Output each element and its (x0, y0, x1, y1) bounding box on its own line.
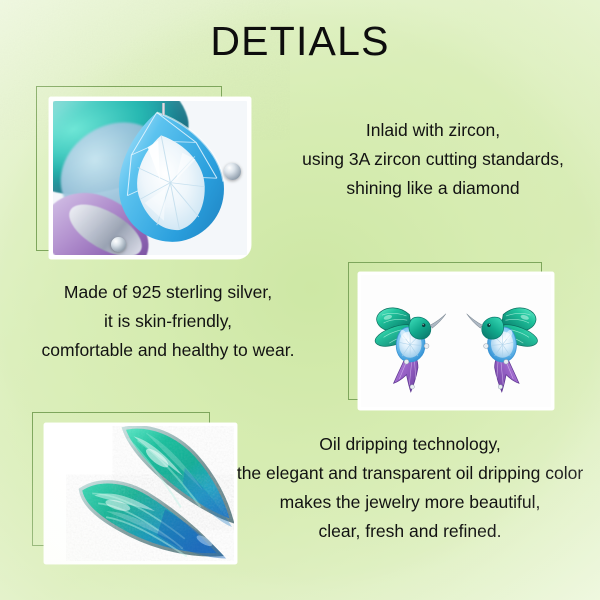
photo-frame-earrings (358, 272, 554, 410)
page-title: DETIALS (0, 18, 600, 65)
product-detail-page: DETIALS (0, 0, 600, 600)
zircon-line-3: shining like a diamond (283, 174, 583, 203)
oil-line-2: the elegant and transparent oil dripping… (230, 459, 590, 488)
photo-panel-enamel (32, 412, 232, 564)
photo-frame-zircon (49, 97, 251, 259)
zircon-line-1: Inlaid with zircon, (283, 116, 583, 145)
earrings-scene (361, 275, 551, 407)
oil-line-3: makes the jewelry more beautiful, (230, 488, 590, 517)
photo-panel-earrings (348, 262, 563, 414)
text-block-silver: Made of 925 sterling silver, it is skin-… (18, 278, 318, 365)
text-block-oil-dripping: Oil dripping technology, the elegant and… (230, 430, 590, 546)
zircon-line-2: using 3A zircon cutting standards, (283, 145, 583, 174)
pear-cut-gem (99, 101, 239, 254)
silver-line-3: comfortable and healthy to wear. (18, 336, 318, 365)
prong-ball-right (224, 163, 241, 180)
oil-line-4: clear, fresh and refined. (230, 517, 590, 546)
silver-line-1: Made of 925 sterling silver, (18, 278, 318, 307)
hummingbird-earring-right (460, 293, 544, 393)
silver-line-2: it is skin-friendly, (18, 307, 318, 336)
oil-line-1: Oil dripping technology, (230, 430, 590, 459)
hummingbird-earrings-pair (361, 275, 551, 407)
photo-panel-zircon (36, 86, 251, 266)
gem-scene (53, 101, 247, 255)
silver-post-top (162, 103, 165, 115)
zircon-crystal-closeup (53, 101, 247, 255)
text-block-zircon: Inlaid with zircon, using 3A zircon cutt… (283, 116, 583, 203)
hummingbird-earring-left (369, 293, 453, 393)
enamel-wing-closeup (47, 426, 234, 561)
enamel-scene (47, 426, 234, 561)
photo-frame-enamel (44, 423, 237, 564)
